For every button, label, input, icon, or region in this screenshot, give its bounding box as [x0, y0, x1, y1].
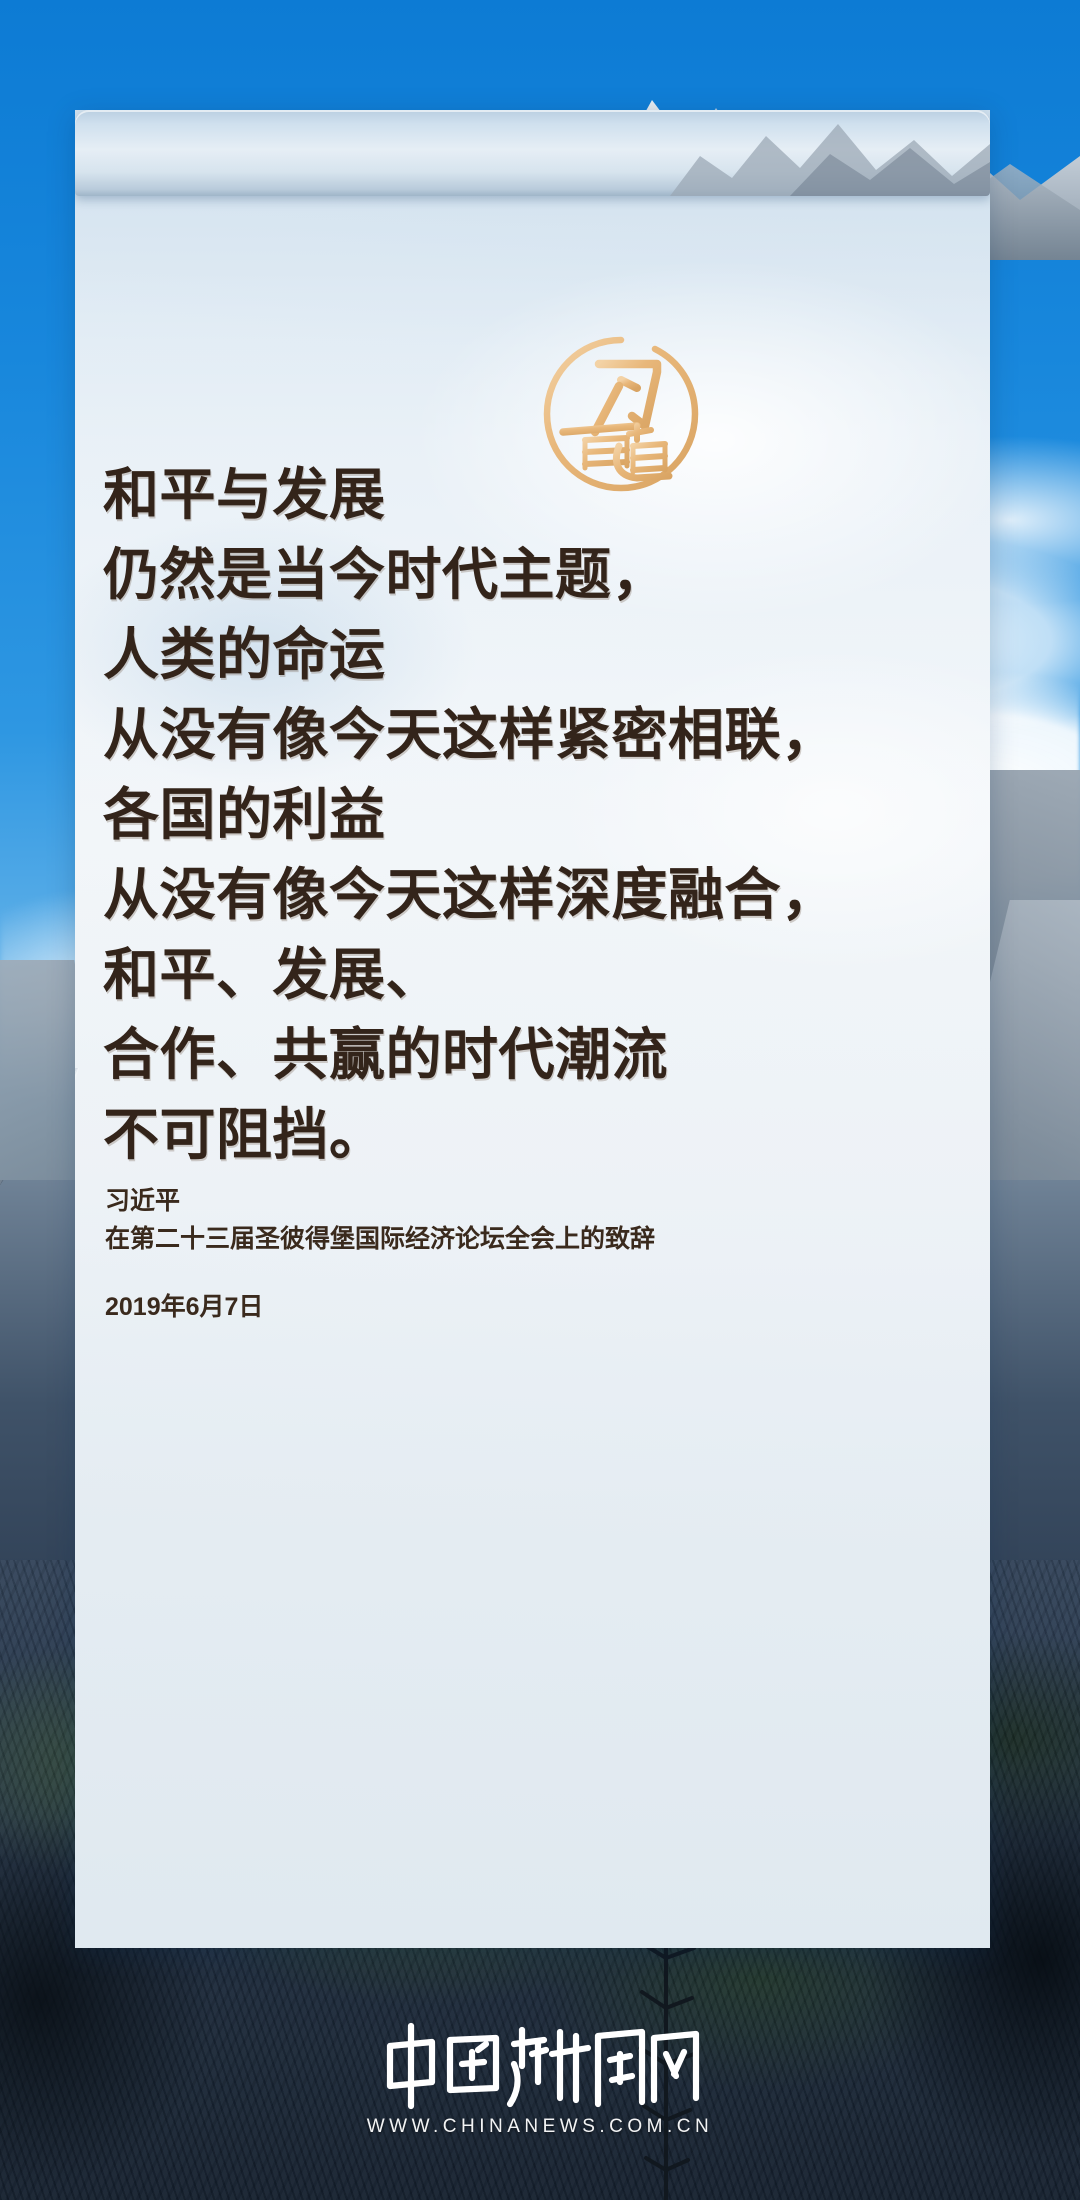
attribution-occasion: 在第二十三届圣彼得堡国际经济论坛全会上的致辞 [105, 1220, 965, 1258]
quote-line: 合作、共赢的时代潮流 [103, 1015, 963, 1095]
quote-line: 人类的命运 [103, 615, 963, 695]
attribution-block: 习近平 在第二十三届圣彼得堡国际经济论坛全会上的致辞 2019年6月7日 [105, 1182, 965, 1326]
footer-brand: WWW.CHINANEWS.COM.CN [0, 2020, 1080, 2138]
scroll-edge-photo-peek [670, 110, 990, 196]
footer-url: WWW.CHINANEWS.COM.CN [0, 2116, 1080, 2138]
quote-line: 和平、发展、 [103, 935, 963, 1015]
quote-text: 和平与发展 仍然是当今时代主题， 人类的命运 从没有像今天这样紧密相联， 各国的… [103, 455, 963, 1175]
quote-line: 和平与发展 [103, 455, 963, 535]
scroll-rolled-top-edge [75, 110, 990, 196]
quote-line: 仍然是当今时代主题， [103, 535, 963, 615]
quote-line: 各国的利益 [103, 775, 963, 855]
attribution-date: 2019年6月7日 [105, 1288, 965, 1326]
quote-line: 从没有像今天这样紧密相联， [103, 695, 963, 775]
quote-line: 从没有像今天这样深度融合， [103, 855, 963, 935]
attribution-speaker: 习近平 [105, 1182, 965, 1220]
quote-line: 不可阻挡。 [103, 1095, 963, 1175]
chinanews-logo-icon [380, 2020, 700, 2112]
quote-card: 和平与发展 仍然是当今时代主题， 人类的命运 从没有像今天这样紧密相联， 各国的… [75, 110, 990, 1948]
